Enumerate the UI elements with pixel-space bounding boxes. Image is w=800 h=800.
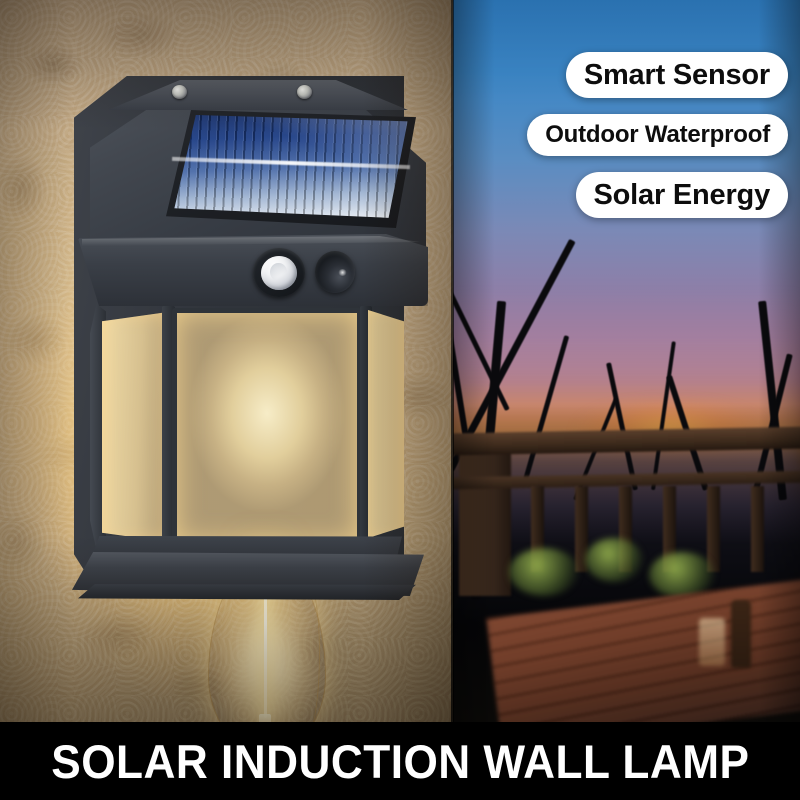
deck-glassware [699, 618, 725, 666]
lantern-glass-right-pane [368, 310, 404, 538]
foliage-cluster [509, 548, 579, 596]
lantern-glass-left-pane [102, 312, 168, 542]
wall-lamp-fixture [68, 66, 438, 611]
badge-outdoor-waterproof: Outdoor Waterproof [527, 114, 788, 156]
foliage-cluster [585, 538, 643, 582]
railing-post [459, 436, 511, 596]
motion-sensor-dome [261, 256, 297, 290]
panel-divider [451, 0, 454, 722]
lamp-base-lip [78, 584, 416, 600]
left-photo-panel [0, 0, 453, 722]
bulb-stem [259, 714, 271, 722]
banner-title-text: SOLAR INDUCTION WALL LAMP [51, 734, 749, 789]
right-photo-panel: Smart Sensor Outdoor Waterproof Solar En… [453, 0, 800, 722]
deck-bottle [731, 600, 751, 668]
lantern-glass-assembly [86, 298, 418, 556]
feature-badge-list: Smart Sensor Outdoor Waterproof Solar En… [530, 52, 788, 218]
badge-smart-sensor: Smart Sensor [566, 52, 788, 98]
mount-screw-right-icon [297, 85, 312, 99]
mount-screw-left-icon [172, 85, 187, 99]
light-sensor-icon [315, 251, 355, 293]
railing-baluster [707, 486, 720, 572]
solar-panel-reflection [172, 115, 410, 221]
badge-solar-energy: Solar Energy [576, 172, 789, 218]
lantern-glass-front-pane [172, 308, 362, 546]
product-image: Smart Sensor Outdoor Waterproof Solar En… [0, 0, 800, 800]
motion-sensor-icon [253, 248, 305, 297]
railing-baluster [751, 486, 764, 572]
bottom-title-banner: SOLAR INDUCTION WALL LAMP [0, 722, 800, 800]
